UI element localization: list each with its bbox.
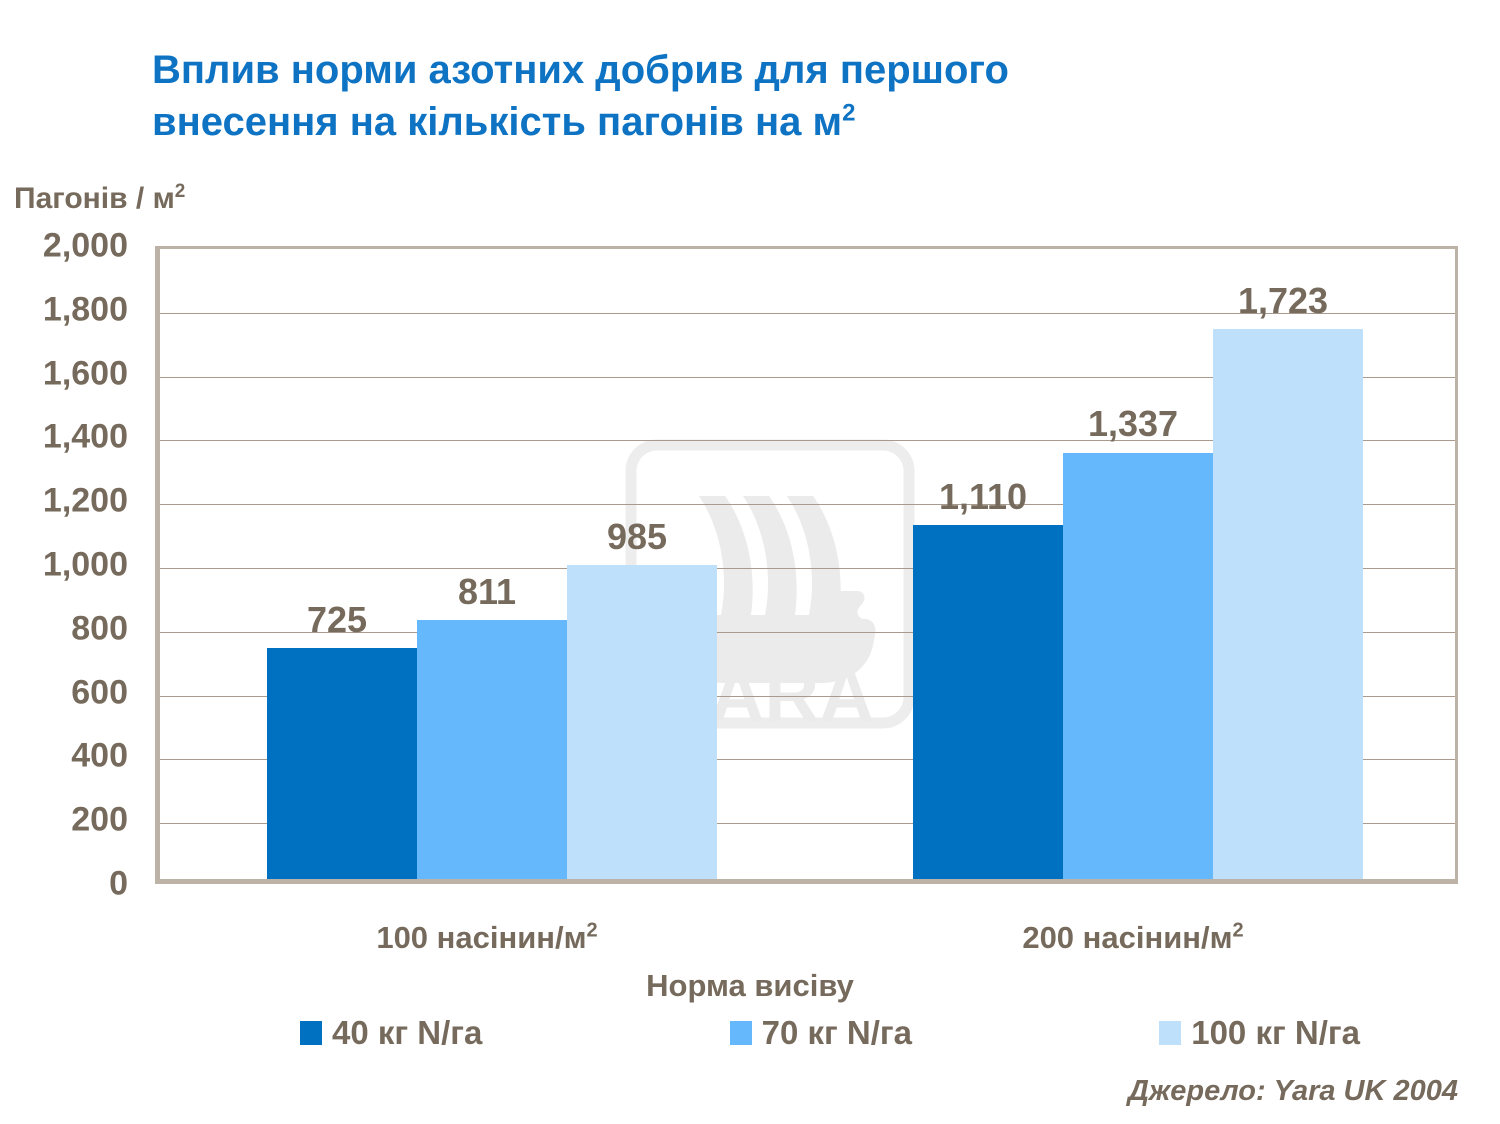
bar xyxy=(913,525,1063,879)
bar-value-label: 811 xyxy=(458,571,516,613)
source-note: Джерело: Yara UK 2004 xyxy=(1128,1075,1458,1108)
title-superscript: 2 xyxy=(842,100,855,127)
y-axis-tick-label: 200 xyxy=(0,801,128,840)
y-axis-tick-label: 1,600 xyxy=(0,354,128,393)
legend-color-swatch xyxy=(1159,1021,1181,1045)
x-axis-tick-label-superscript: 2 xyxy=(587,920,598,942)
y-axis-tick-label: 600 xyxy=(0,673,128,712)
bar xyxy=(417,620,567,879)
y-axis-title-text: Пагонів / м xyxy=(14,182,175,215)
legend-color-swatch xyxy=(730,1021,752,1045)
bar xyxy=(567,565,717,879)
x-axis-tick-label-text: 200 насінин/м xyxy=(1022,920,1232,955)
x-axis-tick-label: 200 насінин/м2 xyxy=(1022,920,1243,956)
y-axis-tick-label: 400 xyxy=(0,737,128,776)
y-axis-tick-label: 0 xyxy=(0,865,128,904)
plot-inner: YARA xyxy=(160,249,1455,879)
y-axis-tick-label: 1,400 xyxy=(0,418,128,457)
y-axis-tick-label: 1,200 xyxy=(0,482,128,521)
plot-area: YARA xyxy=(155,246,1458,884)
legend-label: 40 кг N/га xyxy=(332,1014,482,1052)
bar-value-label: 1,337 xyxy=(1088,403,1178,445)
bar xyxy=(1213,329,1363,879)
bar-value-label: 1,723 xyxy=(1238,280,1328,322)
legend-label: 100 кг N/га xyxy=(1191,1014,1360,1052)
bar xyxy=(267,648,417,879)
x-axis-tick-label-text: 100 насінин/м xyxy=(376,920,586,955)
y-axis-title-superscript: 2 xyxy=(175,181,186,202)
bar-value-label: 725 xyxy=(307,599,367,641)
y-axis-tick-label: 800 xyxy=(0,609,128,648)
legend-item[interactable]: 100 кг N/га xyxy=(1159,1014,1360,1052)
title-line-1: Вплив норми азотних добрив для першого xyxy=(152,48,1009,92)
title-line-2: внесення на кількість пагонів на м xyxy=(152,100,842,144)
bar-value-label: 1,110 xyxy=(939,476,1027,518)
y-axis-tick-label: 2,000 xyxy=(0,227,128,266)
x-axis-tick-label: 100 насінин/м2 xyxy=(376,920,597,956)
bar xyxy=(1063,453,1213,880)
y-axis-tick-label: 1,000 xyxy=(0,546,128,585)
page-title: Вплив норми азотних добрив для першого в… xyxy=(152,44,1332,148)
y-axis-title: Пагонів / м2 xyxy=(14,182,185,216)
legend-label: 70 кг N/га xyxy=(762,1014,912,1052)
legend-item[interactable]: 70 кг N/га xyxy=(730,1014,912,1052)
bar-value-label: 985 xyxy=(607,516,667,558)
y-axis-tick-label: 1,800 xyxy=(0,290,128,329)
x-axis-tick-label-superscript: 2 xyxy=(1233,920,1244,942)
legend-item[interactable]: 40 кг N/га xyxy=(300,1014,482,1052)
chart-legend: 40 кг N/га70 кг N/га100 кг N/га xyxy=(300,1014,1360,1052)
legend-color-swatch xyxy=(300,1021,322,1045)
x-axis-title: Норма висіву xyxy=(0,968,1500,1004)
